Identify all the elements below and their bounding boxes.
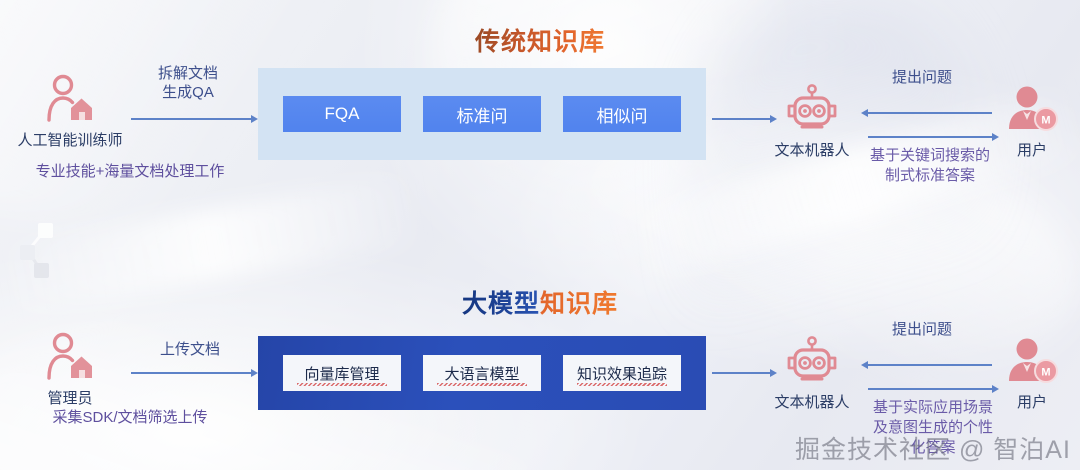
knowledge-panel-traditional: FQA 标准问 相似问 xyxy=(258,68,706,160)
actor-label: 管理员 xyxy=(10,387,130,408)
person-house-icon xyxy=(43,367,97,384)
arrow-trainer-to-panel xyxy=(131,118,251,120)
actor-text-robot-top: 文本机器人 xyxy=(752,84,872,160)
diagram-canvas: 传统知识库 人工智能训练师 专业技能+海量文档处理工作 拆解文档 生成QA FQ… xyxy=(0,0,1080,470)
panel-chip[interactable]: 相似问 xyxy=(563,96,681,132)
panel-chip[interactable]: 知识效果追踪 xyxy=(563,355,681,391)
actor-label: 用户 xyxy=(972,139,1080,160)
svg-text:M: M xyxy=(1041,115,1050,127)
arrow-head-left xyxy=(861,361,868,369)
admin-note: 采集SDK/文档筛选上传 xyxy=(14,408,246,428)
title-bottom-orange-text: 知识库 xyxy=(540,290,618,318)
upload-caption-top: 拆解文档 生成QA xyxy=(128,64,248,102)
user-badge-icon: M xyxy=(1003,371,1061,388)
panel-chip[interactable]: 向量库管理 xyxy=(283,355,401,391)
actor-ai-trainer: 人工智能训练师 xyxy=(10,74,130,150)
actor-user-top: M 用户 xyxy=(972,84,1080,160)
arrow-head-right xyxy=(251,369,258,377)
network-node-decoration xyxy=(14,215,74,285)
actor-label: 文本机器人 xyxy=(752,391,872,412)
page-title-llm: 大模型知识库 xyxy=(0,284,1080,320)
caption-line-2: 生成QA xyxy=(128,83,248,102)
svg-text:M: M xyxy=(1041,367,1050,379)
robot-icon xyxy=(782,371,842,388)
actor-label: 用户 xyxy=(972,391,1080,412)
question-caption-bottom: 提出问题 xyxy=(862,320,982,339)
ai-trainer-note: 专业技能+海量文档处理工作 xyxy=(10,162,250,182)
actor-admin: 管理员 xyxy=(10,332,130,408)
knowledge-panel-llm: 向量库管理 大语言模型 知识效果追踪 xyxy=(258,336,706,410)
actor-label: 人工智能训练师 xyxy=(10,129,130,150)
arrow-head-right xyxy=(251,115,258,123)
title-top-text: 传统知识库 xyxy=(475,28,605,56)
panel-chip[interactable]: 大语言模型 xyxy=(423,355,541,391)
person-house-icon xyxy=(43,109,97,126)
actor-text-robot-bottom: 文本机器人 xyxy=(752,336,872,412)
question-caption-top: 提出问题 xyxy=(862,68,982,87)
watermark: 掘金技术社区 @ 智泊AI xyxy=(795,430,1071,466)
page-title-traditional: 传统知识库 xyxy=(0,22,1080,58)
caption-line-1: 拆解文档 xyxy=(128,64,248,83)
panel-chip[interactable]: FQA xyxy=(283,96,401,132)
user-badge-icon: M xyxy=(1003,119,1061,136)
arrow-admin-to-panel xyxy=(131,372,251,374)
actor-label: 文本机器人 xyxy=(752,139,872,160)
robot-icon xyxy=(782,119,842,136)
panel-chip[interactable]: 标准问 xyxy=(423,96,541,132)
caption-line-2: 制式标准答案 xyxy=(860,166,1000,186)
arrow-head-left xyxy=(861,109,868,117)
actor-user-bottom: M 用户 xyxy=(972,336,1080,412)
title-bottom-blue-text: 大模型 xyxy=(462,290,540,318)
upload-caption-bottom: 上传文档 xyxy=(138,340,242,359)
